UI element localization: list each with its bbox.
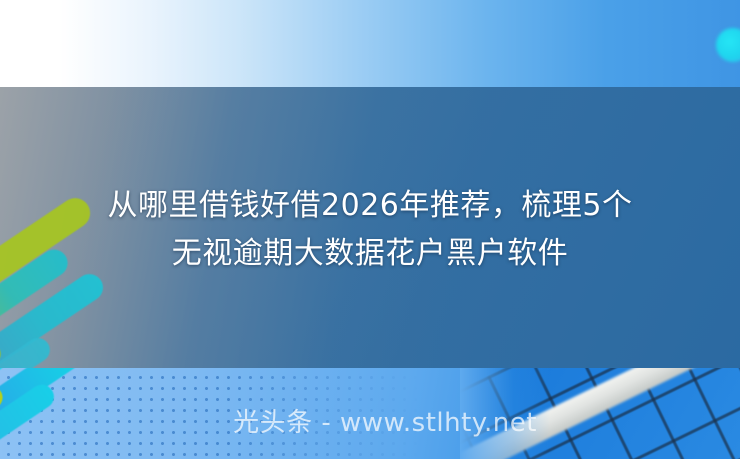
- top-gradient-band: [0, 0, 740, 87]
- banner-title: 从哪里借钱好借2026年推荐，梳理5个 无视逾期大数据花户黑户软件: [0, 182, 740, 278]
- site-watermark: 光头条 - www.stlhty.net: [0, 408, 740, 438]
- promo-banner: 从哪里借钱好借2026年推荐，梳理5个 无视逾期大数据花户黑户软件 光头条 - …: [0, 0, 740, 459]
- cyan-circle-icon: [716, 28, 740, 62]
